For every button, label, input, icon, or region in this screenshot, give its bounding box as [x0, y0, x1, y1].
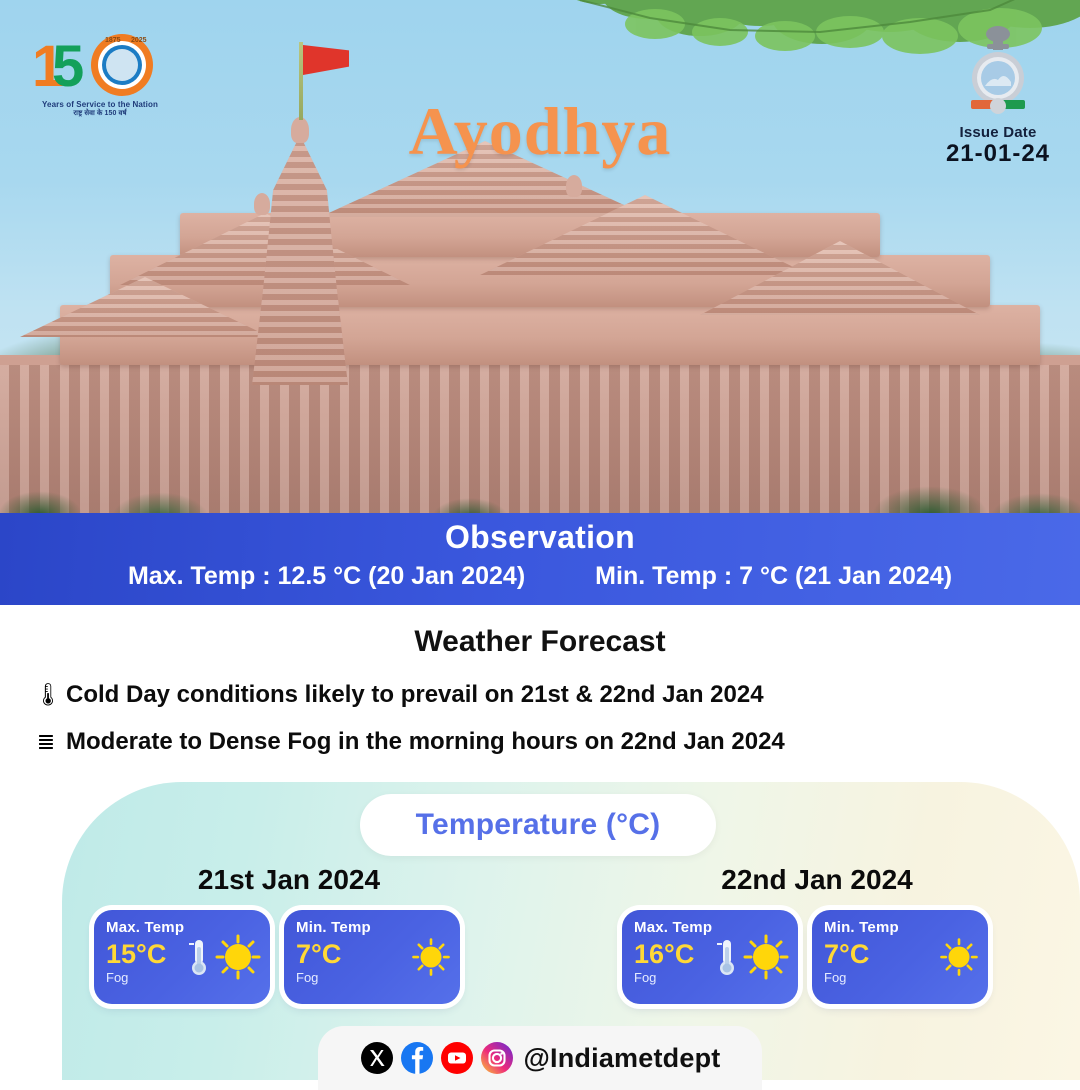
thermometer-icon — [186, 935, 212, 979]
card-icons — [714, 933, 790, 981]
day-2-date-label: 22nd Jan 2024 — [622, 864, 1012, 896]
observation-max-temp: Max. Temp : 12.5 °C (20 Jan 2024) — [128, 562, 525, 591]
card-icons — [410, 936, 452, 978]
sun-icon — [938, 936, 980, 978]
imd-emblem-icon — [959, 24, 1037, 120]
youtube-icon[interactable] — [440, 1041, 474, 1075]
day-2-cards: Max. Temp 16°C Fog — [622, 910, 1012, 1004]
forecast-bullet-text: Moderate to Dense Fog in the morning hou… — [66, 727, 785, 757]
observation-min-temp: Min. Temp : 7 °C (21 Jan 2024) — [595, 562, 952, 591]
card-label: Min. Temp — [824, 919, 976, 936]
day-2-max-temp-card[interactable]: Max. Temp 16°C Fog — [622, 910, 798, 1004]
observation-title: Observation — [0, 519, 1080, 556]
day-1-date-label: 21st Jan 2024 — [94, 864, 484, 896]
logo-150-mark: 1 5 1875 2025 — [30, 28, 170, 102]
social-handle[interactable]: @Indiametdept — [524, 1043, 721, 1074]
forecast-bullet: 🌡 Cold Day conditions likely to prevail … — [34, 680, 1044, 710]
thermometer-icon — [714, 935, 740, 979]
forecast-bullet-text: Cold Day conditions likely to prevail on… — [66, 680, 764, 710]
observation-band: Observation Max. Temp : 12.5 °C (20 Jan … — [0, 513, 1080, 605]
card-icons — [938, 936, 980, 978]
page-title: Ayodhya — [0, 92, 1080, 171]
issue-date-label: Issue Date — [938, 124, 1058, 141]
forecast-bullets: 🌡 Cold Day conditions likely to prevail … — [34, 680, 1044, 774]
foreground-trees — [0, 445, 1080, 515]
temperature-title-pill: Temperature (°C) — [360, 794, 716, 856]
x-icon[interactable] — [360, 1041, 394, 1075]
hero-banner: 1 5 1875 2025 Years of Service to the Na… — [0, 0, 1080, 515]
ram-mandir-temple-image — [0, 155, 1080, 515]
card-label: Min. Temp — [296, 919, 448, 936]
issue-date-block: Issue Date 21-01-24 — [938, 24, 1058, 167]
day-group-2: 22nd Jan 2024 Max. Temp 16°C Fog — [622, 864, 1012, 1004]
observation-row: Max. Temp : 12.5 °C (20 Jan 2024) Min. T… — [0, 562, 1080, 591]
day-2-min-temp-card[interactable]: Min. Temp 7°C Fog — [812, 910, 988, 1004]
forecast-heading: Weather Forecast — [0, 625, 1080, 659]
temple-dome-left — [254, 193, 270, 215]
temple-shikhara — [252, 135, 348, 385]
issue-date-value: 21-01-24 — [938, 141, 1058, 167]
svg-text:1875: 1875 — [105, 37, 121, 44]
day-1-max-temp-card[interactable]: Max. Temp 15°C Fog — [94, 910, 270, 1004]
forecast-bullet: ≣ Moderate to Dense Fog in the morning h… — [34, 727, 1044, 757]
svg-text:5: 5 — [52, 34, 84, 99]
sun-icon — [742, 933, 790, 981]
instagram-icon[interactable] — [480, 1041, 514, 1075]
svg-text:2025: 2025 — [131, 37, 147, 44]
day-group-1: 21st Jan 2024 Max. Temp 15°C Fog — [94, 864, 484, 1004]
day-1-min-temp-card[interactable]: Min. Temp 7°C Fog — [284, 910, 460, 1004]
card-icons — [186, 933, 262, 981]
social-footer: @Indiametdept — [318, 1026, 762, 1090]
thermometer-icon: 🌡 — [34, 680, 58, 710]
day-1-cards: Max. Temp 15°C Fog — [94, 910, 484, 1004]
temple-flag — [303, 45, 349, 75]
sun-icon — [410, 936, 452, 978]
facebook-icon[interactable] — [400, 1041, 434, 1075]
sun-icon — [214, 933, 262, 981]
social-icons — [360, 1041, 514, 1075]
temperature-title: Temperature (°C) — [416, 808, 661, 842]
temple-dome-right — [566, 175, 582, 197]
fog-icon: ≣ — [34, 727, 58, 757]
